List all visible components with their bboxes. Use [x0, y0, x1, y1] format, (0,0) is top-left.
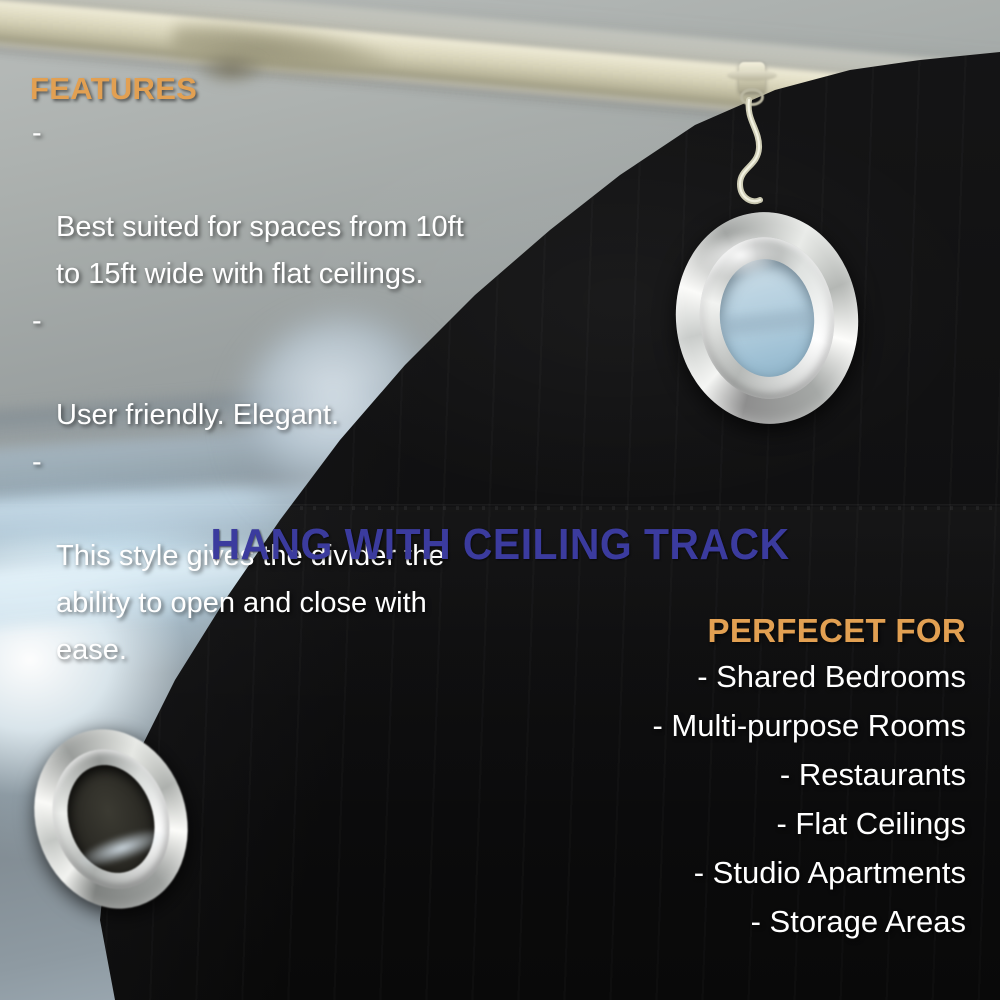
feature-item-text: User friendly. Elegant. — [56, 399, 339, 431]
list-item: - Studio Apartments — [326, 848, 966, 897]
list-item: - Shared Bedrooms — [326, 652, 966, 701]
feature-item: - Best suited for spaces from 10ft to 15… — [30, 110, 590, 298]
features-block: FEATURES - Best suited for spaces from 1… — [30, 72, 590, 674]
perfect-for-heading: PERFECET FOR — [326, 612, 966, 650]
curtain-grommet-primary — [665, 203, 868, 433]
feature-item-text: Best suited for spaces from 10ft to 15ft… — [56, 211, 464, 290]
bullet-dash: - — [32, 110, 42, 157]
list-item: - Flat Ceilings — [326, 799, 966, 848]
perfect-for-block: PERFECET FOR - Shared Bedrooms - Multi-p… — [326, 612, 966, 946]
feature-item: - User friendly. Elegant. — [30, 298, 590, 439]
features-heading: FEATURES — [30, 72, 590, 106]
s-hook-icon — [726, 96, 782, 216]
product-feature-graphic: FEATURES - Best suited for spaces from 1… — [0, 0, 1000, 1000]
perfect-for-list: - Shared Bedrooms - Multi-purpose Rooms … — [326, 652, 966, 946]
list-item: - Multi-purpose Rooms — [326, 701, 966, 750]
list-item: - Storage Areas — [326, 897, 966, 946]
banner-title: HANG WITH CEILING TRACK — [35, 520, 965, 570]
glider-flange — [727, 70, 777, 81]
features-list: - Best suited for spaces from 10ft to 15… — [30, 110, 590, 674]
list-item: - Restaurants — [326, 750, 966, 799]
bullet-dash: - — [32, 298, 42, 345]
bullet-dash: - — [32, 439, 42, 486]
